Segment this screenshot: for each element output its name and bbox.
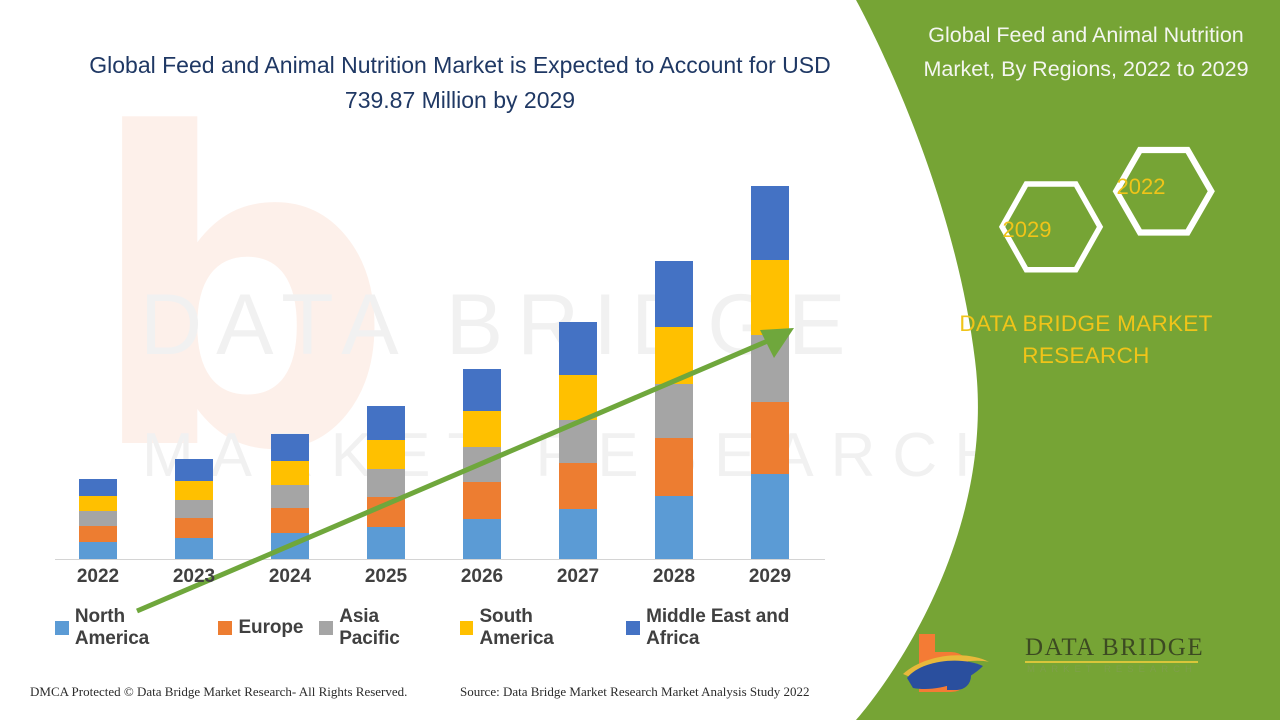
x-axis-label-2023: 2023 — [146, 566, 242, 588]
bar-segment-2028-middle-east-and-africa — [655, 261, 693, 327]
bar-segment-2024-europe — [271, 508, 309, 533]
legend-swatch-icon — [460, 621, 474, 635]
bar-segment-2028-europe — [655, 438, 693, 496]
x-axis-labels: 20222023202420252026202720282029 — [55, 566, 825, 596]
bar-segment-2023-south-america — [175, 481, 213, 500]
legend-item-middle-east-and-africa[interactable]: Middle East and Africa — [626, 606, 845, 650]
bar-segment-2025-south-america — [367, 440, 405, 469]
x-axis-label-2027: 2027 — [530, 566, 626, 588]
bar-segment-2029-south-america — [751, 260, 789, 335]
hex-badge-group: 2022 2029 — [880, 140, 1280, 280]
dbmr-logo: DATA BRIDGE MARKET RESEARCH — [895, 628, 1275, 698]
hex-badge-2029-label: 2029 — [987, 217, 1067, 243]
hex-badge-shapes — [880, 140, 1280, 280]
legend-item-europe[interactable]: Europe — [218, 617, 303, 639]
chart-plot-area — [55, 150, 825, 560]
source-note: Source: Data Bridge Market Research Mark… — [460, 684, 809, 700]
bar-2026 — [463, 369, 501, 559]
legend-label: North America — [75, 606, 203, 650]
bar-segment-2023-middle-east-and-africa — [175, 459, 213, 481]
legend-label: South America — [479, 606, 610, 650]
bar-segment-2025-middle-east-and-africa — [367, 406, 405, 440]
bar-segment-2022-europe — [79, 526, 117, 542]
chart-legend: North AmericaEuropeAsia PacificSouth Ame… — [55, 615, 845, 641]
bar-segment-2024-middle-east-and-africa — [271, 434, 309, 461]
panel-title: Global Feed and Animal Nutrition Market,… — [900, 18, 1272, 86]
bar-segment-2027-middle-east-and-africa — [559, 322, 597, 375]
bar-segment-2027-europe — [559, 463, 597, 509]
bar-segment-2024-south-america — [271, 461, 309, 485]
bar-segment-2028-south-america — [655, 327, 693, 384]
bar-segment-2024-asia-pacific — [271, 485, 309, 508]
bar-segment-2029-middle-east-and-africa — [751, 186, 789, 260]
legend-item-asia-pacific[interactable]: Asia Pacific — [319, 606, 443, 650]
bar-segment-2028-asia-pacific — [655, 384, 693, 438]
hex-badge-2022-label: 2022 — [1101, 174, 1181, 200]
x-axis-label-2024: 2024 — [242, 566, 338, 588]
legend-label: Middle East and Africa — [646, 606, 845, 650]
bar-segment-2029-asia-pacific — [751, 335, 789, 402]
bar-segment-2023-north-america — [175, 538, 213, 559]
page-title: Global Feed and Animal Nutrition Market … — [60, 48, 860, 118]
logo-subtext: MARKET RESEARCH — [1027, 664, 1197, 675]
bar-segment-2022-south-america — [79, 496, 117, 511]
bar-2029 — [751, 186, 789, 559]
bar-2025 — [367, 406, 405, 559]
x-axis-label-2022: 2022 — [50, 566, 146, 588]
legend-swatch-icon — [626, 621, 640, 635]
bar-segment-2026-south-america — [463, 411, 501, 447]
infographic-root: b DATA BRIDGE MARKET RESEARCH Global Fee… — [0, 0, 1280, 720]
bar-segment-2028-north-america — [655, 496, 693, 559]
legend-label: Asia Pacific — [339, 606, 443, 650]
bar-segment-2026-middle-east-and-africa — [463, 369, 501, 411]
bar-segment-2026-north-america — [463, 519, 501, 559]
bar-segment-2023-europe — [175, 518, 213, 538]
legend-swatch-icon — [55, 621, 69, 635]
bar-segment-2022-middle-east-and-africa — [79, 479, 117, 496]
x-axis-label-2026: 2026 — [434, 566, 530, 588]
brand-name: DATA BRIDGE MARKET RESEARCH — [900, 308, 1272, 372]
x-axis-label-2028: 2028 — [626, 566, 722, 588]
bar-segment-2026-europe — [463, 482, 501, 519]
stacked-bars — [55, 150, 825, 559]
bar-segment-2027-asia-pacific — [559, 420, 597, 463]
x-axis-label-2029: 2029 — [722, 566, 818, 588]
logo-wordmark: DATA BRIDGE — [1025, 634, 1204, 662]
bar-segment-2027-south-america — [559, 375, 597, 420]
dbmr-logo-icon — [895, 628, 1020, 694]
x-axis-label-2025: 2025 — [338, 566, 434, 588]
legend-item-south-america[interactable]: South America — [460, 606, 611, 650]
bar-2027 — [559, 322, 597, 559]
bar-2024 — [271, 434, 309, 559]
bar-segment-2025-north-america — [367, 527, 405, 559]
bar-segment-2023-asia-pacific — [175, 500, 213, 518]
legend-label: Europe — [238, 617, 303, 639]
bar-segment-2029-europe — [751, 402, 789, 474]
bar-segment-2022-asia-pacific — [79, 511, 117, 526]
bar-segment-2022-north-america — [79, 542, 117, 559]
legend-item-north-america[interactable]: North America — [55, 606, 202, 650]
green-panel-content: Global Feed and Animal Nutrition Market,… — [880, 0, 1280, 720]
bar-segment-2027-north-america — [559, 509, 597, 559]
legend-swatch-icon — [319, 621, 333, 635]
bar-segment-2025-asia-pacific — [367, 469, 405, 497]
bar-2023 — [175, 459, 213, 559]
bar-segment-2025-europe — [367, 497, 405, 527]
footer: DMCA Protected © Data Bridge Market Rese… — [0, 680, 860, 710]
bar-2022 — [79, 479, 117, 559]
bar-segment-2024-north-america — [271, 533, 309, 559]
bar-segment-2029-north-america — [751, 474, 789, 559]
legend-swatch-icon — [218, 621, 232, 635]
bar-segment-2026-asia-pacific — [463, 447, 501, 482]
bar-2028 — [655, 261, 693, 559]
x-axis-line — [55, 559, 825, 560]
dmca-notice: DMCA Protected © Data Bridge Market Rese… — [30, 684, 407, 700]
